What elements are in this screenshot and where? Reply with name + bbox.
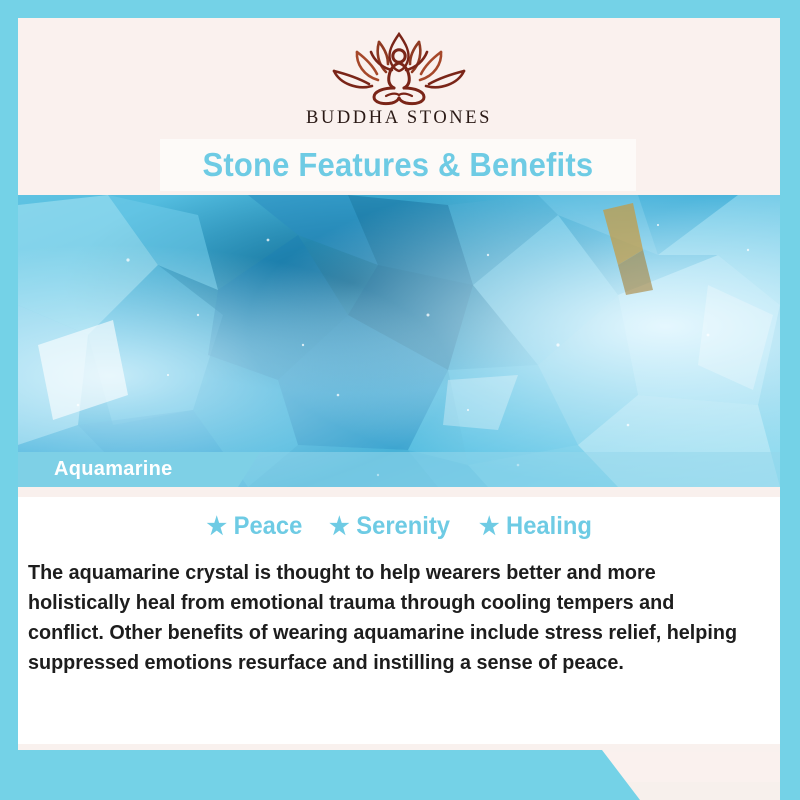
brand-header: BUDDHA STONES (18, 18, 780, 138)
star-icon: ★ (330, 515, 350, 539)
star-icon: ★ (479, 515, 499, 539)
keyword-label: Peace (233, 512, 302, 541)
aquamarine-crystal-cluster-photo (18, 195, 780, 487)
title-banner: Stone Features & Benefits (160, 139, 636, 191)
keyword-label: Serenity (357, 512, 451, 541)
keyword-label: Healing (506, 512, 592, 541)
keyword-item-peace: ★ Peace (206, 512, 302, 541)
infographic-page: BUDDHA STONES Stone Features & Benefits (0, 0, 800, 800)
keyword-item-serenity: ★ Serenity (330, 512, 451, 541)
stone-name-label: Aquamarine (54, 452, 173, 487)
lotus-meditation-figure-icon (324, 26, 474, 106)
frame-band-right (780, 0, 800, 800)
keyword-item-healing: ★ Healing (479, 512, 592, 541)
frame-band-top (0, 0, 800, 18)
hero-image (18, 195, 780, 487)
brand-name: BUDDHA STONES (306, 108, 492, 129)
description-text: The aquamarine crystal is thought to hel… (28, 558, 746, 678)
page-title: Stone Features & Benefits (203, 146, 594, 184)
star-icon: ★ (206, 515, 226, 539)
frame-band-left (0, 0, 18, 800)
keyword-list: ★ Peace ★ Serenity ★ Healing (18, 512, 780, 541)
